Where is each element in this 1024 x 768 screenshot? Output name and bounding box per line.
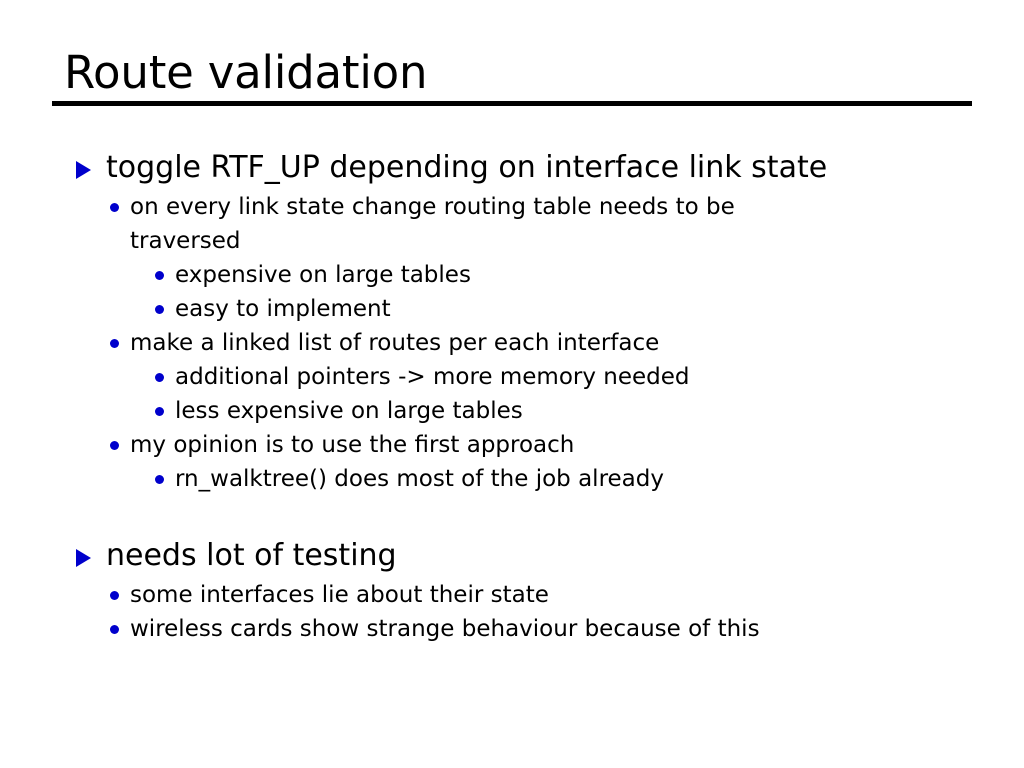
list-item: expensive on large tables [0,258,1024,292]
list-item-label: less expensive on large tables [175,394,1024,428]
round-bullet-icon [155,305,175,314]
bullet-list: toggle RTF_UP depending on interface lin… [0,148,1024,646]
round-bullet-icon [155,373,175,382]
round-bullet-icon [155,407,175,416]
list-item: make a linked list of routes per each in… [0,326,1024,360]
list-item-label: wireless cards show strange behaviour be… [130,612,830,646]
list-item-label: on every link state change routing table… [130,190,830,258]
list-item-label: make a linked list of routes per each in… [130,326,830,360]
list-item: less expensive on large tables [0,394,1024,428]
title-divider [52,101,972,106]
round-bullet-icon [155,475,175,484]
list-item-label: rn_walktree() does most of the job alrea… [175,462,1024,496]
group-spacer [0,496,1024,536]
list-item: my opinion is to use the first approach [0,428,1024,462]
list-item-label: needs lot of testing [106,536,1024,576]
list-item: rn_walktree() does most of the job alrea… [0,462,1024,496]
title-block: Route validation [52,50,972,106]
round-bullet-icon [155,271,175,280]
list-item: easy to implement [0,292,1024,326]
list-item: wireless cards show strange behaviour be… [0,612,1024,646]
round-bullet-icon [110,441,130,450]
round-bullet-icon [110,339,130,348]
list-item: some interfaces lie about their state [0,578,1024,612]
list-item: toggle RTF_UP depending on interface lin… [0,148,1024,188]
list-item-label: toggle RTF_UP depending on interface lin… [106,148,1024,188]
round-bullet-icon [110,625,130,634]
round-bullet-icon [110,591,130,600]
list-item-label: my opinion is to use the first approach [130,428,830,462]
list-item-label: expensive on large tables [175,258,1024,292]
page-title: Route validation [52,50,972,95]
list-item-label: some interfaces lie about their state [130,578,830,612]
list-item-label: additional pointers -> more memory neede… [175,360,1024,394]
triangle-right-bullet-icon [76,549,106,567]
list-item: additional pointers -> more memory neede… [0,360,1024,394]
triangle-right-bullet-icon [76,161,106,179]
slide: Route validation toggle RTF_UP depending… [0,0,1024,768]
list-item: needs lot of testing [0,536,1024,576]
round-bullet-icon [110,203,130,212]
list-item: on every link state change routing table… [0,190,1024,258]
list-item-label: easy to implement [175,292,1024,326]
